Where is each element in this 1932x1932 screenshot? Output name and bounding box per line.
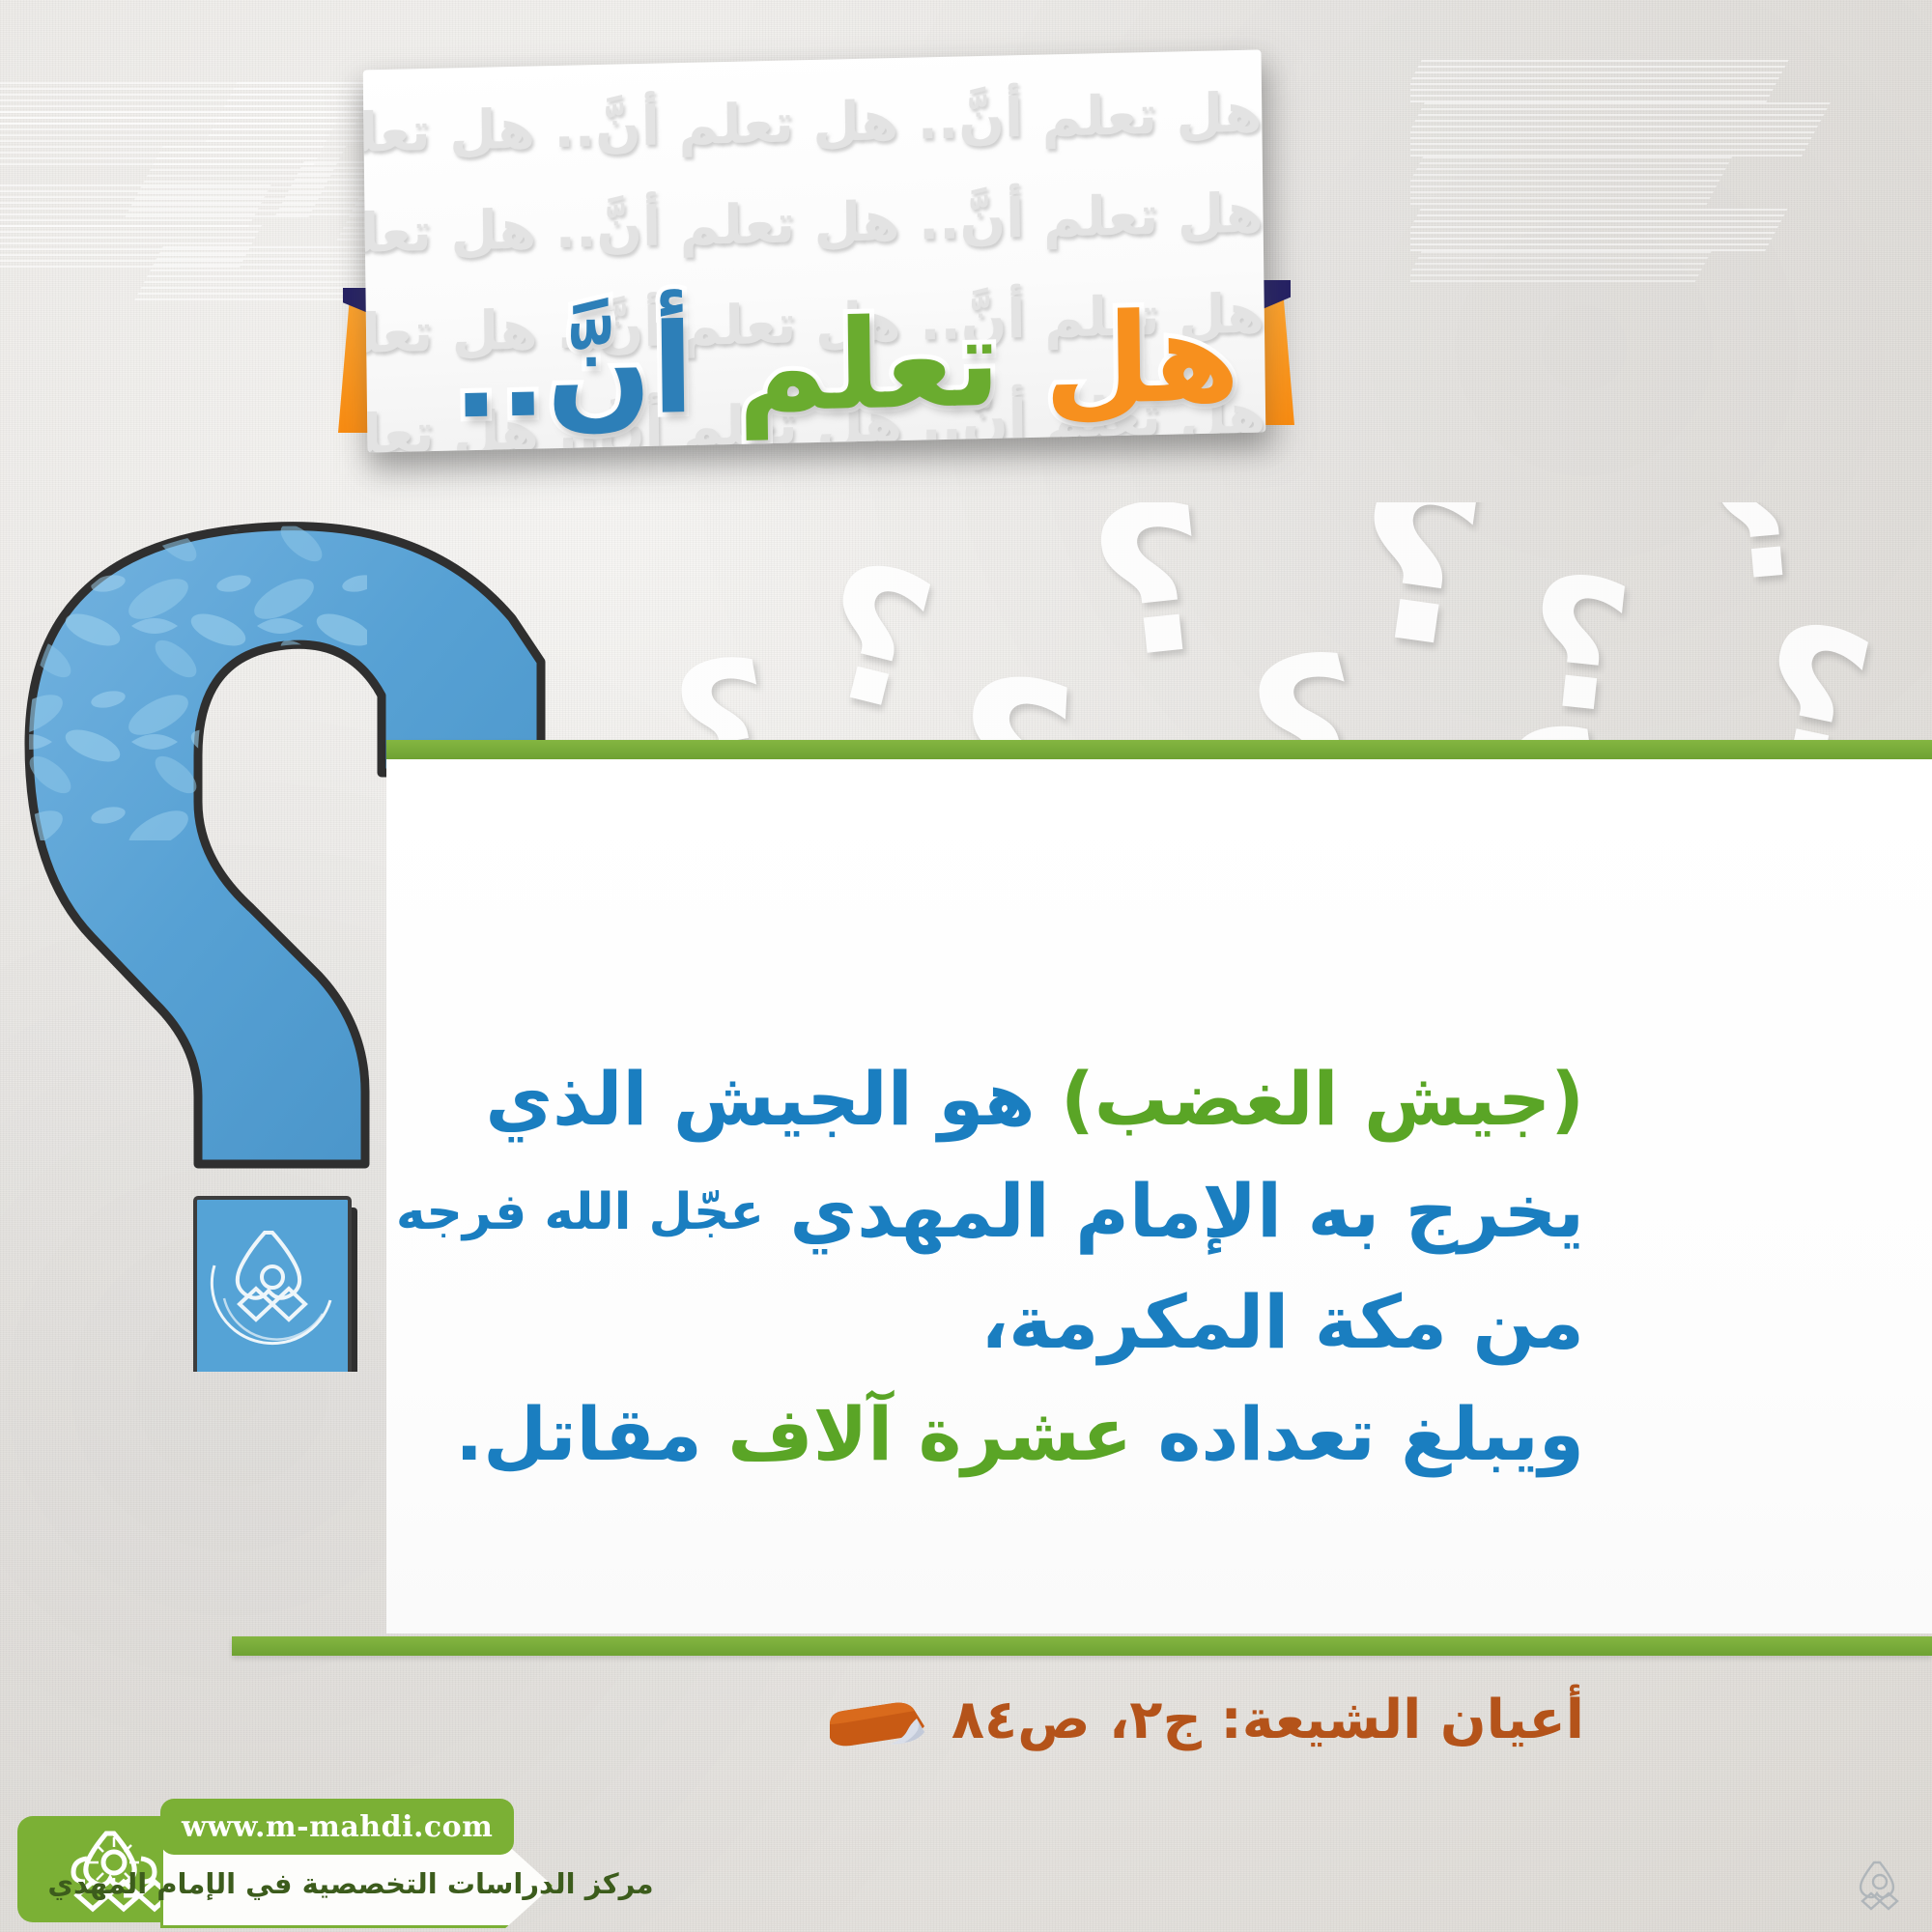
header-banner: هل تعلم أنَّ.. هل تعلم أنَّ.. هل تعلم أن… bbox=[338, 46, 1314, 471]
corner-ornament-icon bbox=[1849, 1857, 1911, 1915]
body-line-2-b: من مكة المكرمة، bbox=[980, 1279, 1584, 1365]
source-citation: أعيان الشيعة: ج٢، ص٨٤ bbox=[824, 1689, 1584, 1751]
honorific-icon: عجّل الله فرجه bbox=[396, 1183, 764, 1241]
title-word-anna: أنَّ.. bbox=[451, 298, 695, 447]
body-line-2: يخرج به الإمام المهدي عجّل الله فرجه من … bbox=[367, 1155, 1584, 1378]
watermark-question-icon: ؟ bbox=[1335, 502, 1498, 700]
body-line-1: (جيش الغضب) هو الجيش الذي bbox=[367, 1043, 1584, 1155]
watermark-question-icon: ؟ bbox=[1080, 502, 1222, 706]
page-title: هل تعلم أنَّ.. bbox=[391, 295, 1240, 440]
question-mark-dot bbox=[195, 1198, 357, 1372]
body-line-3-c: مقاتل. bbox=[455, 1391, 727, 1477]
book-icon bbox=[824, 1691, 930, 1749]
chevron-decoration-right bbox=[1410, 60, 1932, 282]
body-line-1-highlight: (جيش الغضب) bbox=[1061, 1056, 1584, 1142]
title-word-hal: هل bbox=[1042, 285, 1240, 434]
title-word-taalam: تعلم bbox=[736, 291, 1002, 440]
body-line-3: ويبلغ تعداده عشرة آلاف مقاتل. bbox=[367, 1378, 1584, 1491]
body-line-3-a: ويبلغ تعداده bbox=[1132, 1391, 1584, 1477]
organization-name: مركز الدراسات التخصصية في الإمام المهدي bbox=[172, 1847, 529, 1920]
watermark-question-icon: ؟ bbox=[797, 522, 952, 754]
footer-logo[interactable]: مركز الدراسات التخصصية في الإمام المهدي … bbox=[17, 1799, 558, 1922]
body-line-2-a: يخرج به الإمام المهدي bbox=[764, 1168, 1584, 1254]
divider-rule-top bbox=[386, 740, 1932, 759]
body-line-3-highlight: عشرة آلاف bbox=[727, 1391, 1132, 1477]
divider-rule-bottom bbox=[232, 1636, 1932, 1656]
website-url-text: www.m-mahdi.com bbox=[182, 1810, 493, 1844]
body-text: (جيش الغضب) هو الجيش الذي يخرج به الإمام… bbox=[367, 1043, 1584, 1490]
poster-canvas: ؟ ؟ ؟ ؟ ؟ ؟ ؟ ؟ ؟ ؟ ؟ ؟ ؟ bbox=[0, 0, 1932, 1932]
source-text: أعيان الشيعة: ج٢، ص٨٤ bbox=[952, 1689, 1584, 1751]
body-line-1-rest: هو الجيش الذي bbox=[485, 1056, 1061, 1142]
website-url[interactable]: www.m-mahdi.com bbox=[160, 1799, 514, 1855]
